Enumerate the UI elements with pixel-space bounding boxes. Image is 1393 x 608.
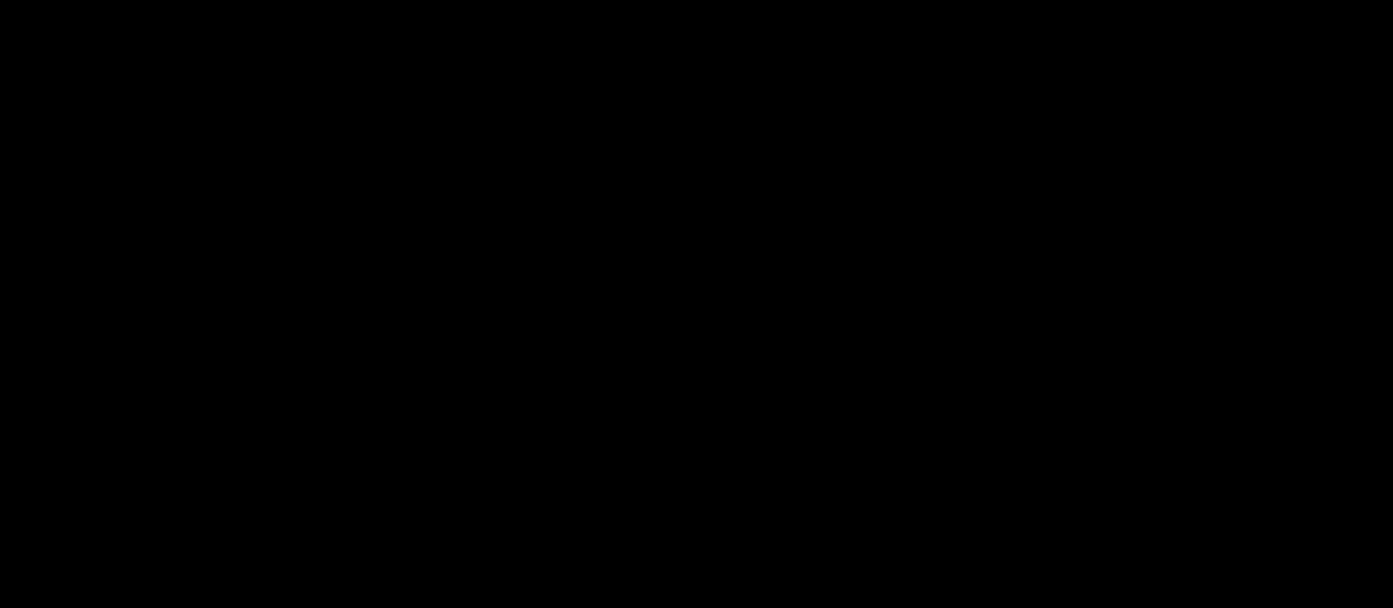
background [0,0,1393,608]
diagram-canvas [0,0,1393,608]
process-flow-diagram [0,0,1393,608]
